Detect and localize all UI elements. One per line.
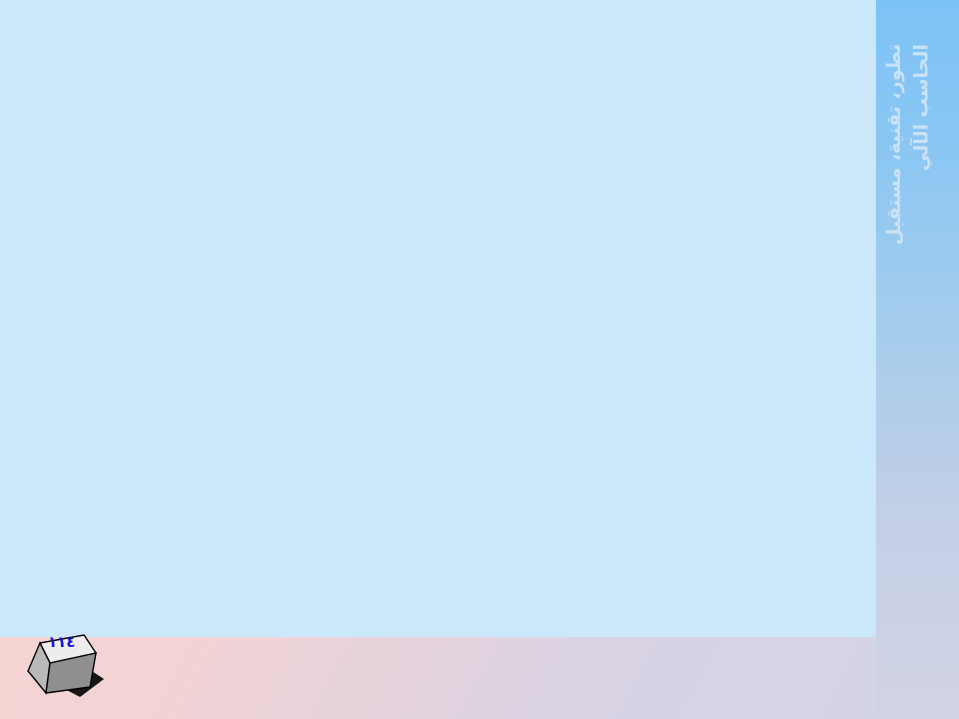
sidebar-vertical-text: تطور، تقنية، مستقبل الحاسب الآلي — [881, 44, 953, 294]
page-number: ١١٤ — [48, 633, 75, 651]
page-number-key-block: ١١٤ — [18, 631, 126, 703]
decorative-right-band: تطور، تقنية، مستقبل الحاسب الآلي — [876, 0, 959, 719]
slide-content-panel — [0, 0, 884, 637]
